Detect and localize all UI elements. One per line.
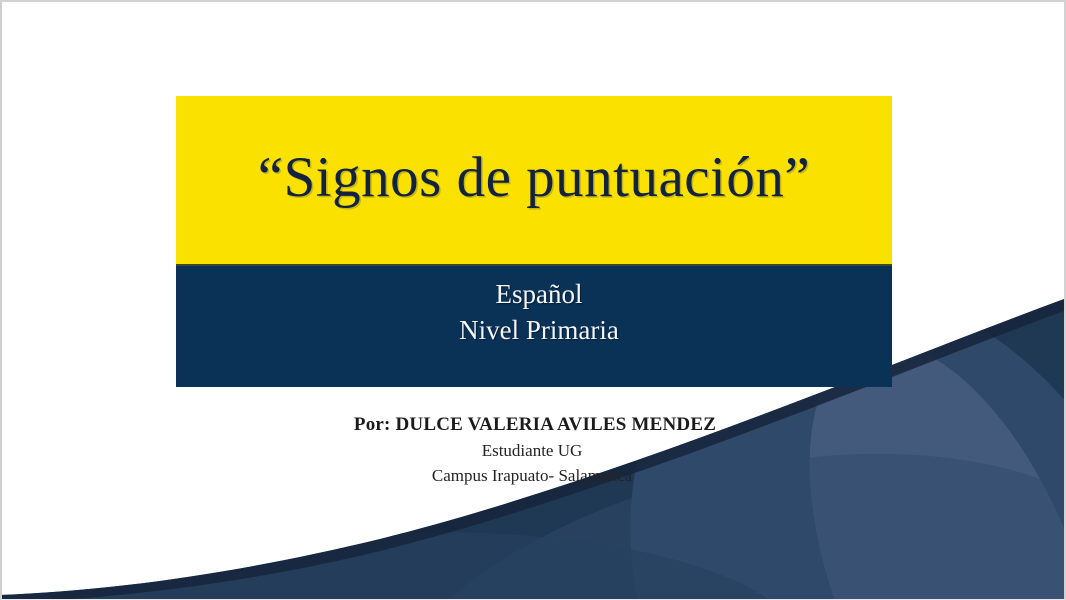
byline-campus: Campus Irapuato- Salamanca (0, 463, 1066, 489)
subtitle-line-level: Nivel Primaria (176, 312, 902, 348)
slide-title: “Signos de puntuación” (258, 148, 810, 212)
presentation-slide: “Signos de puntuación” Español Nivel Pri… (0, 0, 1066, 600)
subtitle-line-subject: Español (176, 276, 902, 312)
subtitle-text-group: Español Nivel Primaria (176, 276, 902, 348)
byline-block: Por: DULCE VALERIA AVILES MENDEZ Estudia… (2, 412, 1066, 489)
subtitle-band: Español Nivel Primaria (176, 264, 892, 387)
byline-author: Por: DULCE VALERIA AVILES MENDEZ (2, 412, 1066, 438)
title-band: “Signos de puntuación” (176, 96, 892, 264)
swoosh-lens-4 (0, 486, 836, 599)
byline-role: Estudiante UG (0, 438, 1066, 464)
